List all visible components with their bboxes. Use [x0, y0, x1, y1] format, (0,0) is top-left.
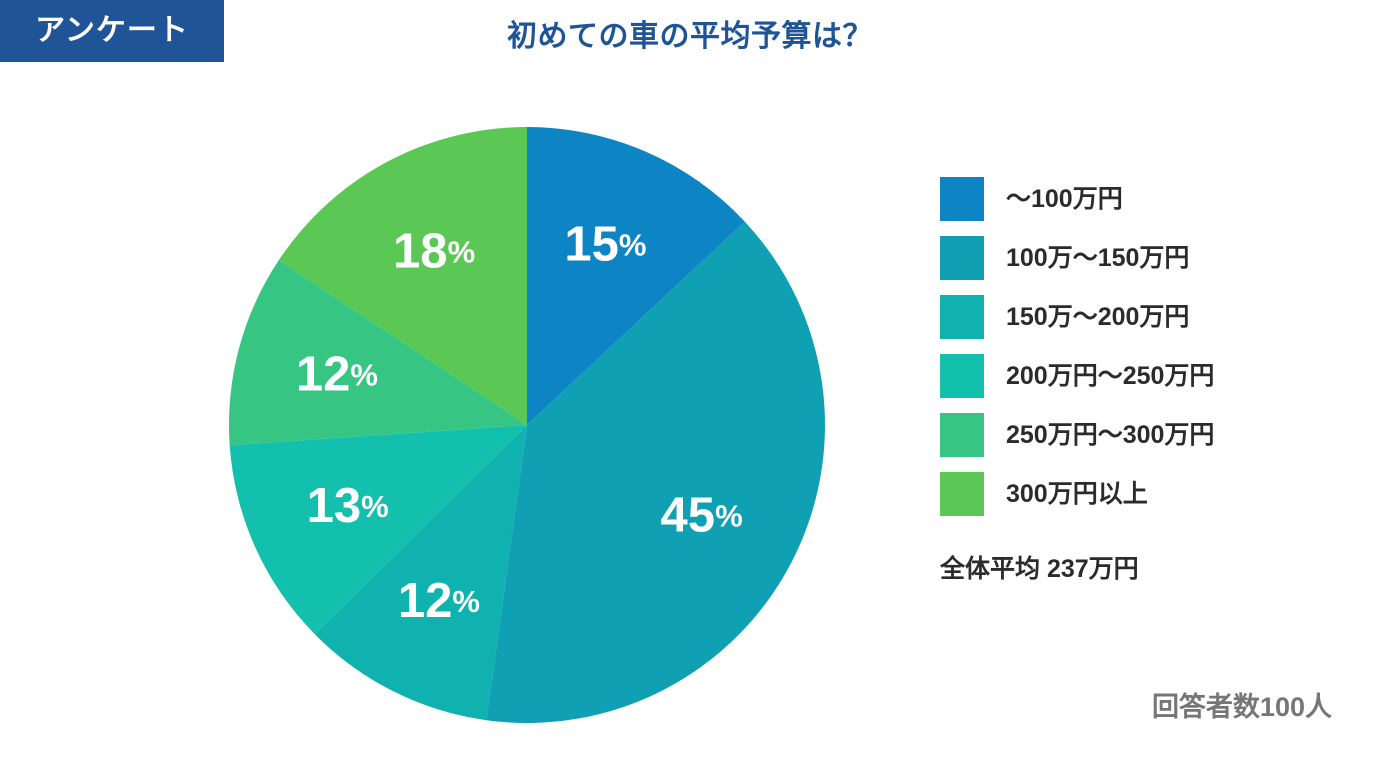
- legend-item[interactable]: 〜100万円: [940, 177, 1214, 221]
- legend-item-label: 200万円〜250万円: [1006, 364, 1214, 389]
- survey-badge-label: アンケート: [35, 16, 189, 46]
- legend-swatch-icon: [940, 472, 984, 516]
- pie-chart-svg: 15%45%12%13%12%18%: [225, 123, 829, 727]
- legend-item[interactable]: 150万〜200万円: [940, 295, 1214, 339]
- legend-swatch-icon: [940, 236, 984, 280]
- legend-item[interactable]: 100万〜150万円: [940, 236, 1214, 280]
- legend-item[interactable]: 300万円以上: [940, 472, 1214, 516]
- legend-item-label: 100万〜150万円: [1006, 246, 1189, 271]
- pie-chart: 15%45%12%13%12%18%: [225, 123, 829, 727]
- legend-item-label: 300万円以上: [1006, 482, 1148, 507]
- legend-swatch-icon: [940, 177, 984, 221]
- respondent-count-note: 回答者数100人: [1152, 694, 1332, 721]
- legend-swatch-icon: [940, 354, 984, 398]
- legend-swatch-icon: [940, 295, 984, 339]
- legend: 〜100万円 100万〜150万円 150万〜200万円 200万円〜250万円…: [940, 177, 1214, 531]
- legend-swatch-icon: [940, 413, 984, 457]
- legend-item-label: 150万〜200万円: [1006, 305, 1189, 330]
- legend-item[interactable]: 250万円〜300万円: [940, 413, 1214, 457]
- pie-slice-group: [229, 127, 825, 723]
- average-budget-note: 全体平均 237万円: [940, 557, 1139, 582]
- survey-badge: アンケート: [0, 0, 224, 62]
- legend-item[interactable]: 200万円〜250万円: [940, 354, 1214, 398]
- legend-item-label: 〜100万円: [1006, 187, 1123, 212]
- legend-item-label: 250万円〜300万円: [1006, 423, 1214, 448]
